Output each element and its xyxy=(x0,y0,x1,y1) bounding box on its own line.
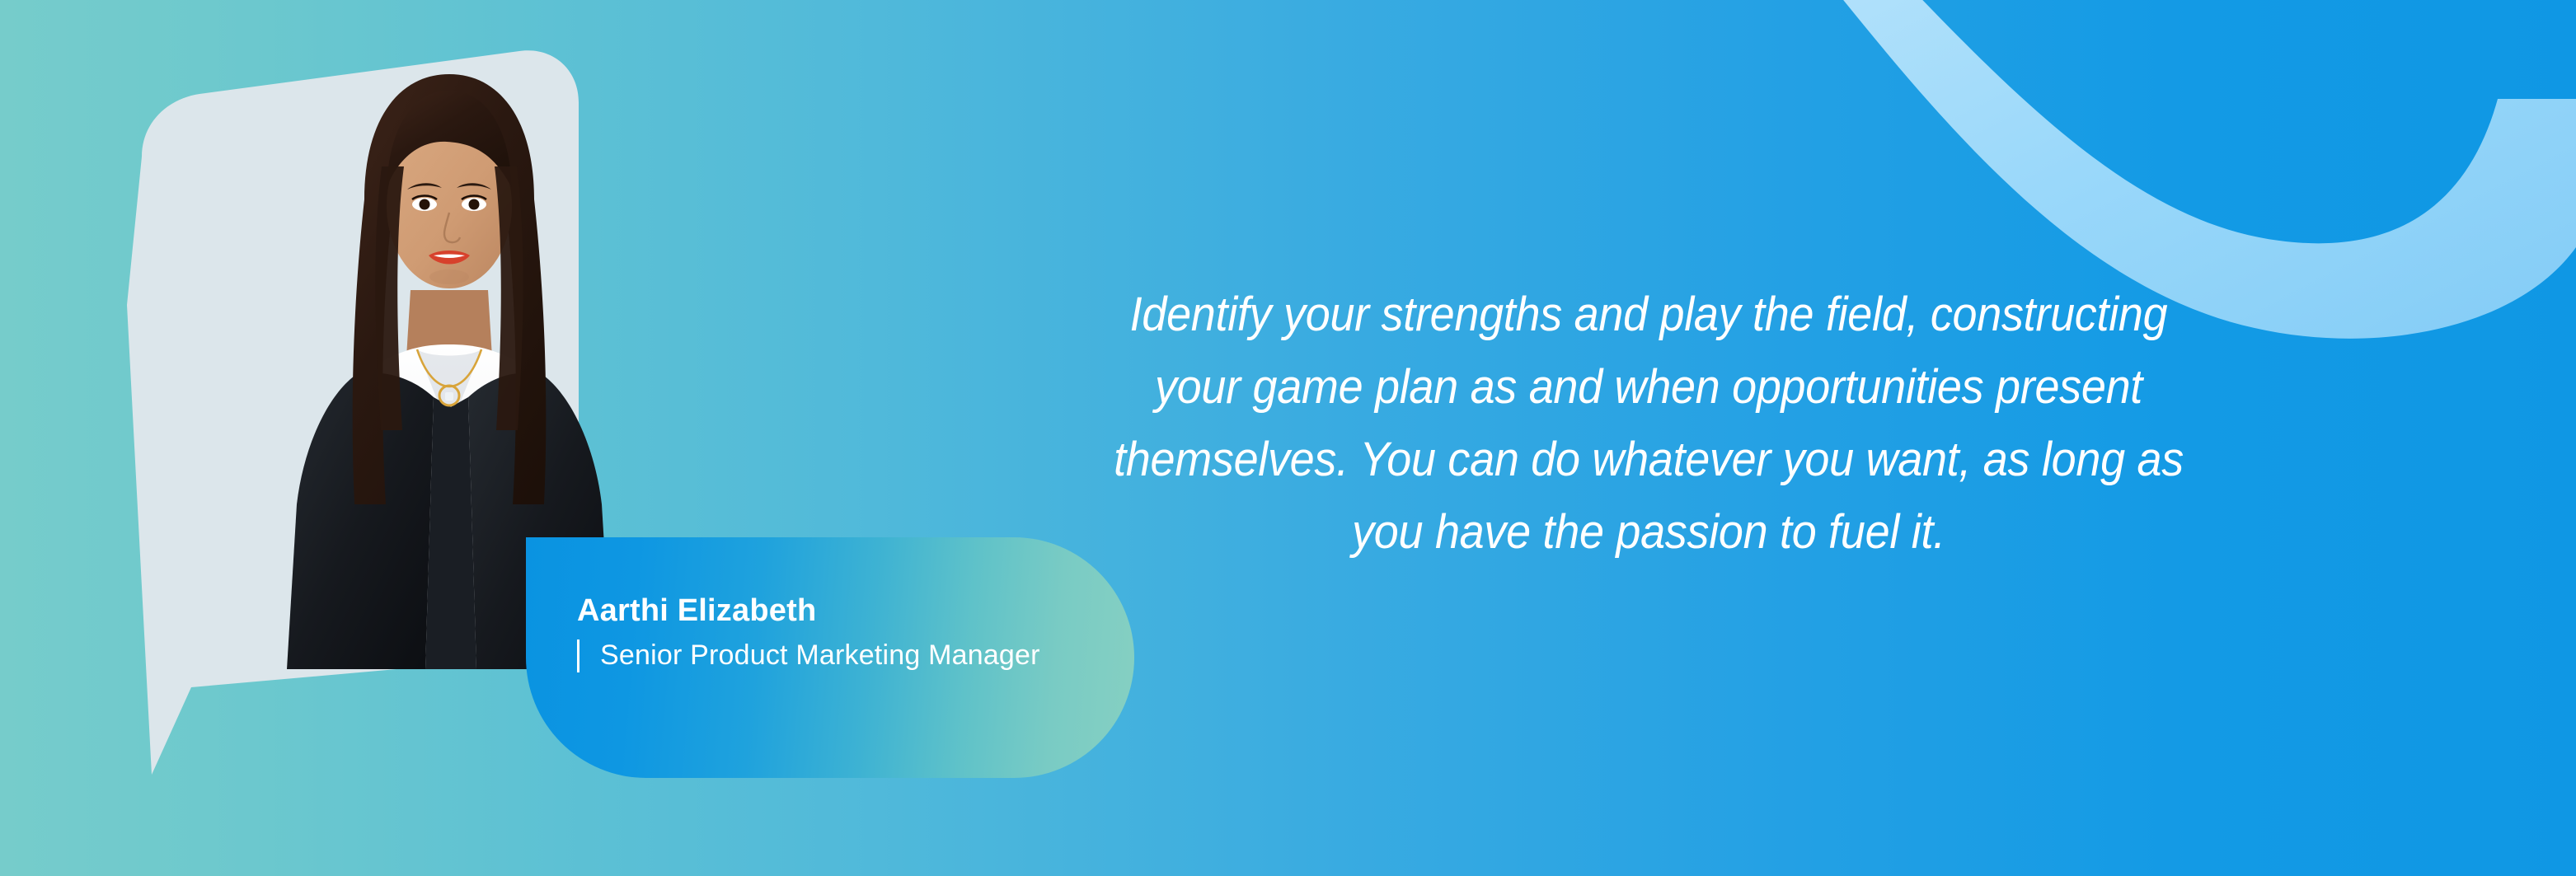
person-badge: Aarthi Elizabeth Senior Product Marketin… xyxy=(526,537,1134,778)
quote-text: Identify your strengths and play the fie… xyxy=(1063,279,2236,569)
person-title: Senior Product Marketing Manager xyxy=(600,639,1040,672)
testimonial-banner: Aarthi Elizabeth Senior Product Marketin… xyxy=(0,0,2576,876)
quote-line: your game plan as and when opportunities… xyxy=(1063,351,2236,424)
quote-line: Identify your strengths and play the fie… xyxy=(1063,279,2236,351)
quote-line: you have the passion to fuel it. xyxy=(1063,496,2236,569)
quote-line: themselves. You can do whatever you want… xyxy=(1063,424,2236,496)
divider-icon xyxy=(577,639,579,672)
person-name: Aarthi Elizabeth xyxy=(577,595,1134,628)
person-title-row: Senior Product Marketing Manager xyxy=(577,639,1134,672)
